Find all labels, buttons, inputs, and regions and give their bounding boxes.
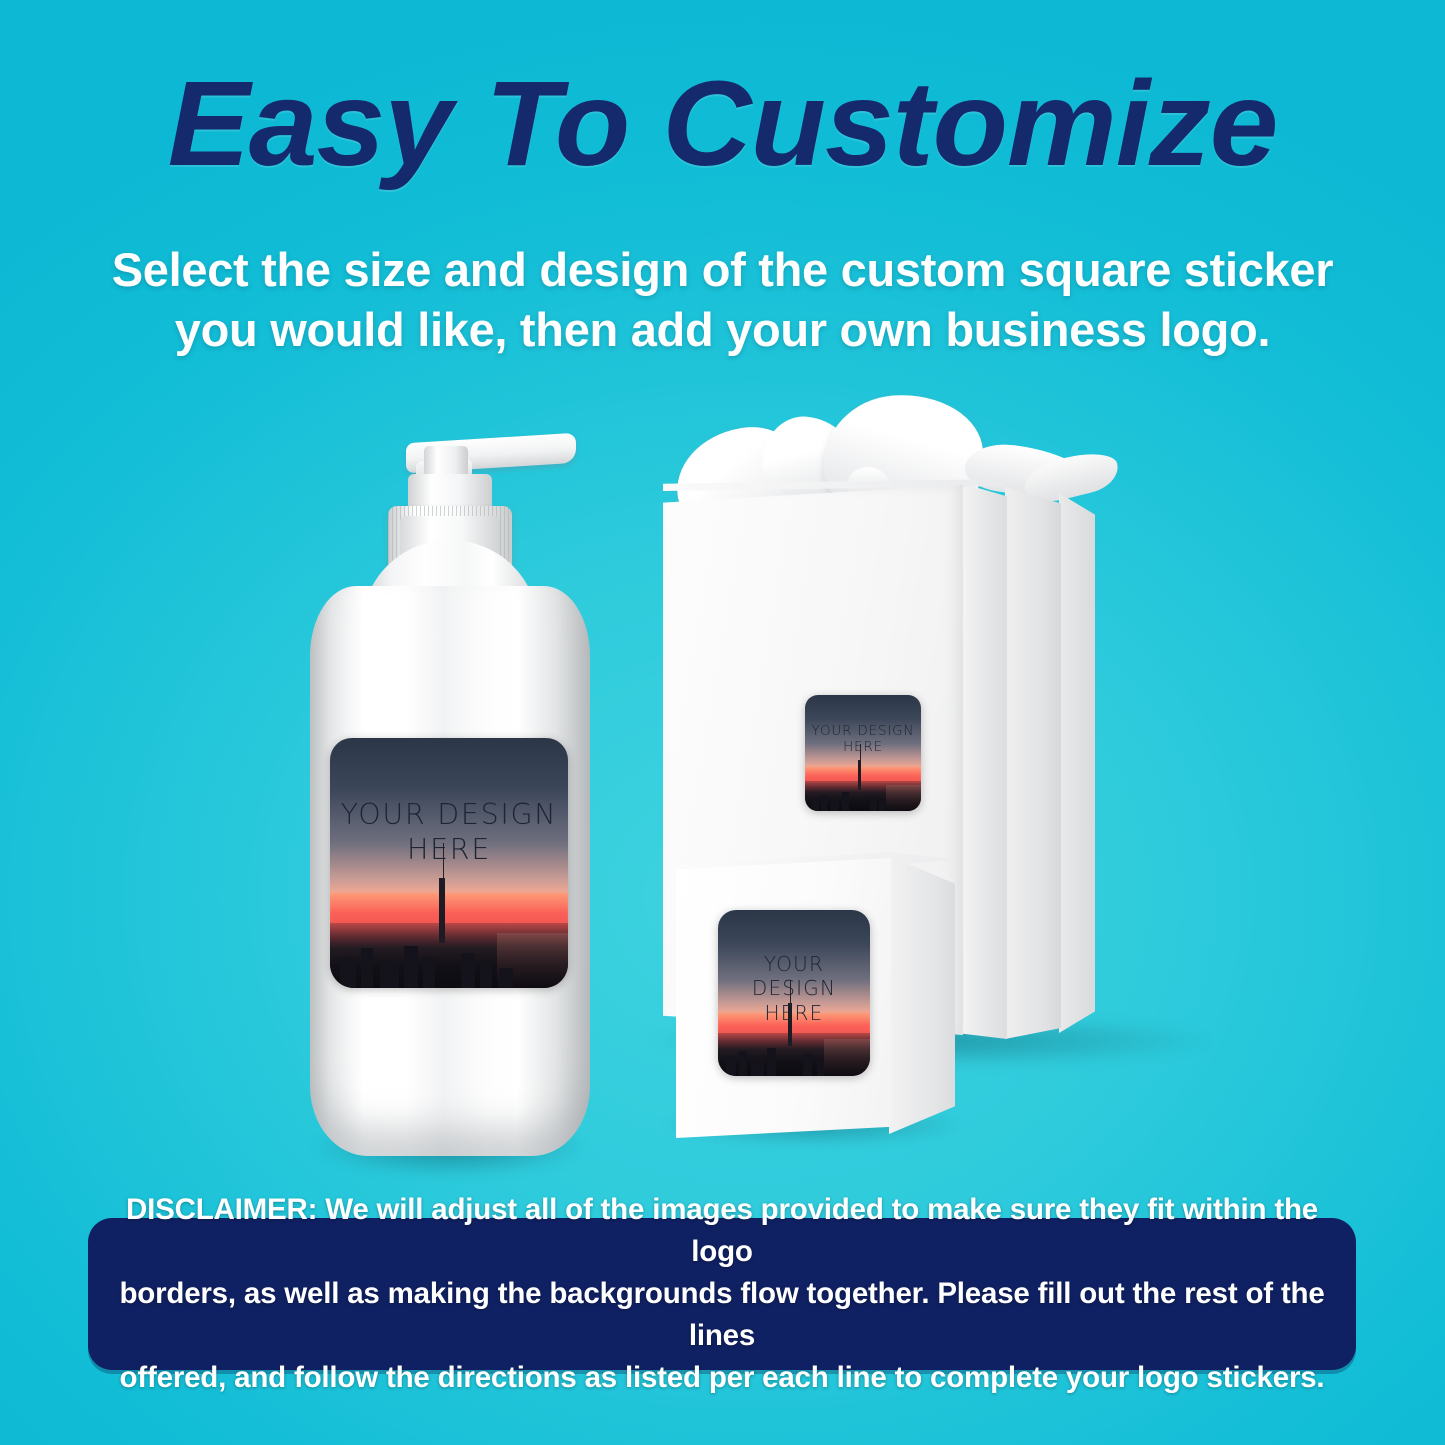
sticker-on-small-box: YOUR DESIGN HERE — [718, 910, 870, 1076]
gift-box-back-panel — [1059, 493, 1095, 1033]
sticker-building — [361, 948, 373, 988]
promotional-banner: Easy To Customize Select the size and de… — [0, 0, 1445, 1445]
sticker-text: YOUR DESIGN HERE — [718, 952, 870, 1025]
sticker-on-bottle: YOUR DESIGN HERE — [330, 738, 568, 988]
sticker-building — [879, 801, 885, 811]
pump-bottle-mockup: YOUR DESIGN HERE — [300, 430, 600, 1190]
disclaimer-banner: DISCLAIMER: We will adjust all of the im… — [88, 1218, 1356, 1370]
disclaimer-line-3: offered, and follow the directions as li… — [114, 1357, 1330, 1399]
sticker-on-gift-box: YOUR DESIGN HERE — [805, 695, 921, 811]
sticker-building — [423, 958, 435, 988]
sticker-building — [870, 796, 877, 811]
disclaimer-line-1-rest: We will adjust all of the images provide… — [317, 1193, 1318, 1268]
sticker-building — [817, 1061, 825, 1076]
page-title: Easy To Customize — [0, 62, 1445, 185]
sticker-text-line-1: YOUR DESIGN — [812, 723, 915, 739]
page-subtitle: Select the size and design of the custom… — [0, 240, 1445, 360]
sticker-building — [842, 792, 849, 811]
disclaimer-label: DISCLAIMER: — [126, 1193, 317, 1226]
sticker-building — [751, 1059, 763, 1076]
sticker-text: YOUR DESIGN HERE — [805, 723, 921, 756]
sticker-building — [831, 799, 839, 811]
sticker-text-line-1: YOUR DESIGN — [341, 798, 558, 831]
disclaimer-line-2: borders, as well as making the backgroun… — [114, 1273, 1330, 1357]
sticker-building — [821, 795, 827, 811]
small-box-side-panel — [889, 856, 955, 1134]
sticker-text-line-2: HERE — [843, 739, 883, 755]
sticker-building — [812, 798, 819, 811]
sticker-landmark-tower — [858, 760, 861, 790]
sticker-text-line-1: YOUR DESIGN — [752, 952, 836, 1000]
sticker-building — [739, 1051, 747, 1076]
sticker-building — [499, 968, 513, 988]
subtitle-line-2: you would like, then add your own busine… — [0, 300, 1445, 360]
sticker-building — [480, 963, 492, 988]
subtitle-line-1: Select the size and design of the custom… — [0, 240, 1445, 300]
small-box-mockup: YOUR DESIGN HERE — [660, 848, 970, 1158]
sticker-text-line-2: HERE — [764, 1001, 823, 1025]
sticker-landmark-tower — [439, 878, 445, 943]
sticker-building — [726, 1056, 737, 1076]
sticker-building — [461, 953, 475, 988]
disclaimer-line-1: DISCLAIMER: We will adjust all of the im… — [114, 1189, 1330, 1273]
sticker-building — [404, 946, 418, 989]
disclaimer-text: DISCLAIMER: We will adjust all of the im… — [88, 1189, 1356, 1398]
sticker-building — [380, 963, 399, 988]
sticker-building — [767, 1048, 776, 1076]
gift-box-side-panel-2 — [1005, 487, 1061, 1039]
sticker-text-line-2: HERE — [407, 833, 491, 866]
sticker-text: YOUR DESIGN HERE — [330, 798, 568, 868]
sticker-building — [803, 1054, 812, 1076]
sticker-building — [340, 958, 357, 988]
